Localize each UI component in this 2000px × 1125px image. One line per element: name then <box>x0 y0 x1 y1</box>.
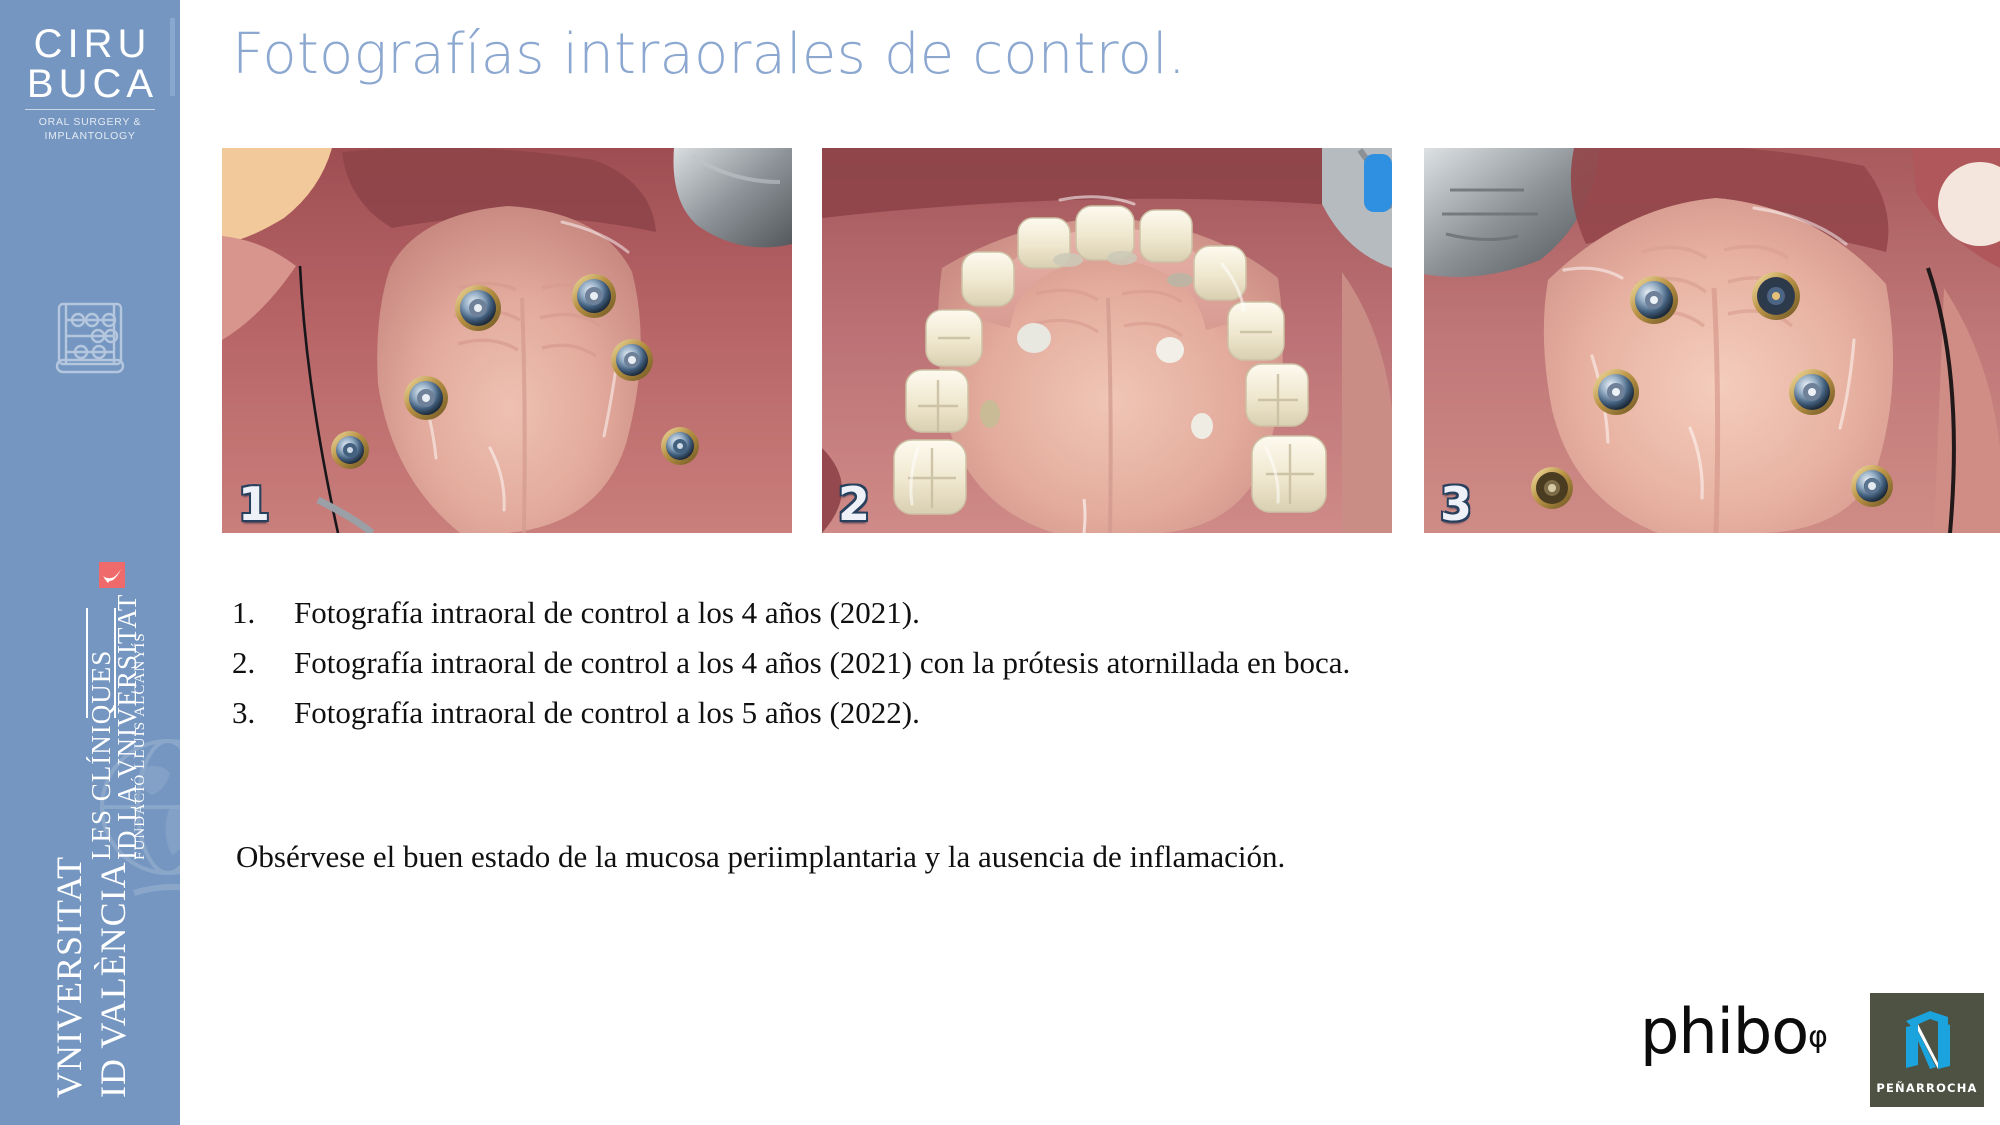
caption-list: 1. Fotografía intraoral de control a los… <box>232 588 1932 738</box>
penarrocha-logo: PEÑARROCHA <box>1870 993 1984 1107</box>
title-accent-bar <box>170 18 175 96</box>
vertical-separator-2 <box>114 608 116 718</box>
intraoral-photo-3-image <box>1424 148 2000 533</box>
list-item-index: 3. <box>232 688 272 738</box>
body-text-block: 1. Fotografía intraoral de control a los… <box>232 588 1932 880</box>
uv-line2: ID VALÈNCIA <box>92 861 134 1098</box>
foundation-line: FUNDACIÓ LLUÍS ALCANYÍS <box>132 632 149 860</box>
intraoral-photo-2-image <box>822 148 1392 533</box>
list-item-text: Fotografía intraoral de control a los 4 … <box>294 595 920 630</box>
page-title: Fotografías intraorales de control. <box>232 18 1186 92</box>
phibo-logo: phiboφ <box>1640 1000 1850 1080</box>
observation-note: Obsérvese el buen estado de la mucosa pe… <box>236 834 1932 880</box>
photo-panel-3[interactable]: 3 <box>1424 148 2000 533</box>
list-item-index: 1. <box>232 588 272 638</box>
uv-line1: VNIVERSITAT <box>48 856 90 1098</box>
list-item: 1. Fotografía intraoral de control a los… <box>232 588 1932 638</box>
phibo-superscript: φ <box>1808 1020 1828 1055</box>
slide-canvas: CIRU BUCA ORAL SURGERY & IMPLANTOLOGY <box>0 0 2000 1125</box>
photo-panel-1[interactable]: 1 <box>222 148 792 533</box>
vertical-separator-1 <box>86 608 88 718</box>
fundacio-mark-icon <box>99 562 125 588</box>
penarrocha-label: PEÑARROCHA <box>1870 1081 1984 1095</box>
list-item: 3. Fotografía intraoral de control a los… <box>232 688 1932 738</box>
list-item-text: Fotografía intraoral de control a los 5 … <box>294 695 920 730</box>
list-item-index: 2. <box>232 638 272 688</box>
phibo-wordmark: phibo <box>1640 995 1808 1068</box>
photo-row: 1 <box>0 148 2000 533</box>
penarrocha-n-icon <box>1900 1007 1954 1073</box>
list-item: 2. Fotografía intraoral de control a los… <box>232 638 1932 688</box>
photo-panel-2[interactable]: 2 <box>822 148 1392 533</box>
intraoral-photo-1-image <box>222 148 792 533</box>
list-item-text: Fotografía intraoral de control a los 4 … <box>294 645 1350 680</box>
